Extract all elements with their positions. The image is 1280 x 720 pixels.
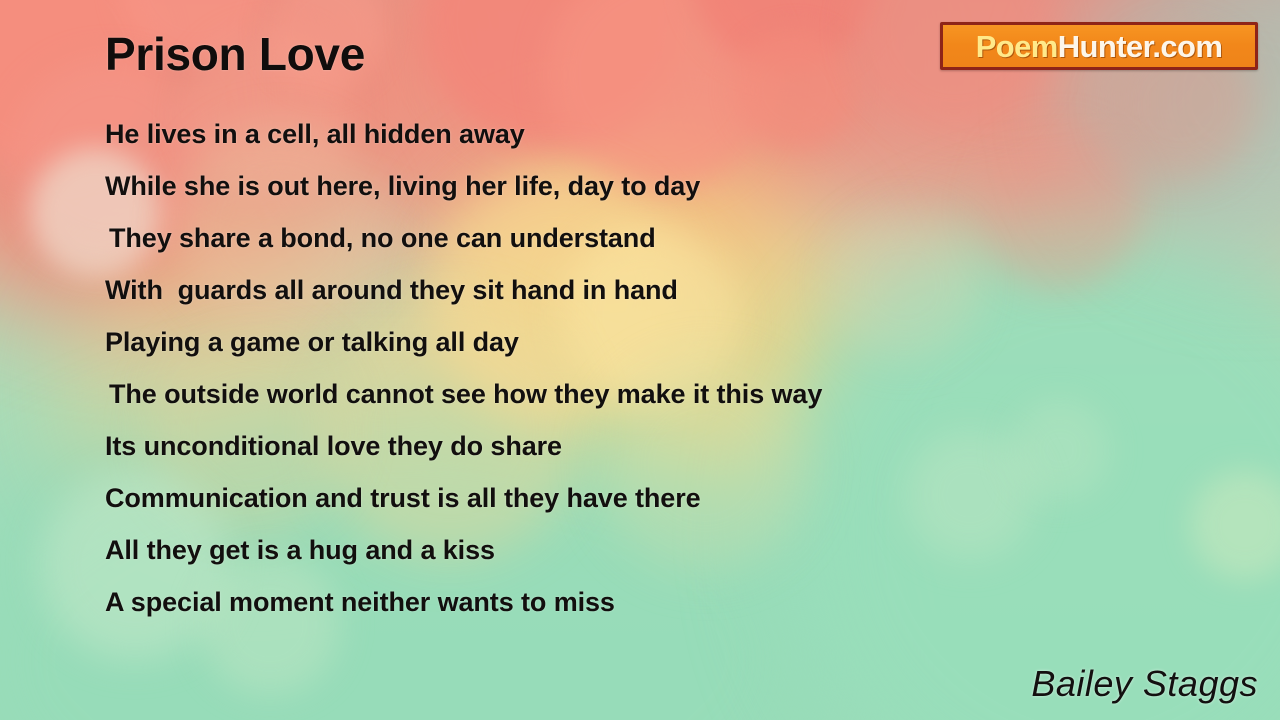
poem-line: He lives in a cell, all hidden away	[105, 108, 1105, 160]
poemhunter-logo[interactable]: PoemHunter.com	[940, 22, 1258, 70]
bokeh-circle-10	[690, 0, 880, 70]
poem-line: Communication and trust is all they have…	[105, 472, 1105, 524]
author-name: Bailey Staggs	[1031, 663, 1258, 705]
poem-line: A special moment neither wants to miss	[105, 576, 1105, 628]
poem-line: While she is out here, living her life, …	[105, 160, 1105, 212]
poem-line: Its unconditional love they do share	[105, 420, 1105, 472]
poem-card: Prison Love PoemHunter.com He lives in a…	[0, 0, 1280, 720]
poem-line: With guards all around they sit hand in …	[105, 264, 1105, 316]
poem-line: Playing a game or talking all day	[105, 316, 1105, 368]
poem-line: They share a bond, no one can understand	[105, 212, 1105, 264]
logo-word-hunter: Hunter.com	[1058, 29, 1223, 64]
poem-line: The outside world cannot see how they ma…	[105, 368, 1105, 420]
poem-line: All they get is a hug and a kiss	[105, 524, 1105, 576]
page-title: Prison Love	[105, 27, 365, 81]
poem-body: He lives in a cell, all hidden awayWhile…	[105, 108, 1105, 628]
logo-word-poem: Poem	[976, 29, 1058, 64]
poemhunter-logo-text: PoemHunter.com	[976, 31, 1223, 62]
bokeh-circle-23	[1190, 470, 1280, 580]
